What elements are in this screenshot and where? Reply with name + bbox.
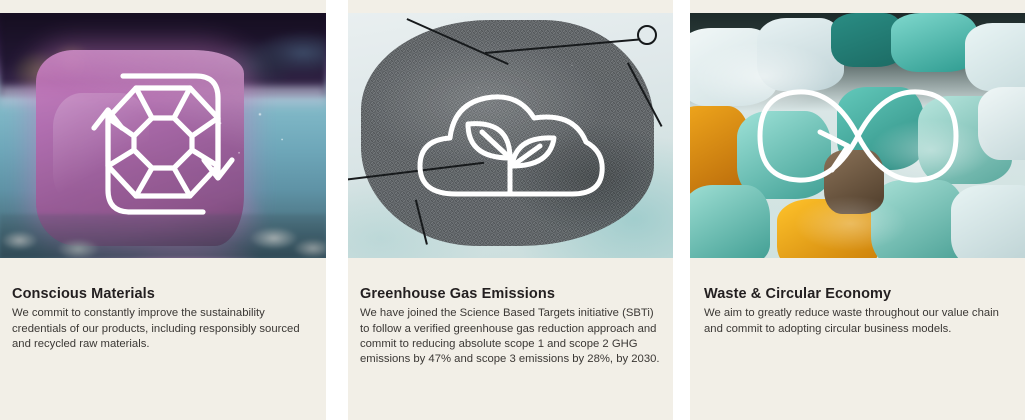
- card-waste-circular-economy[interactable]: Waste & Circular Economy We aim to great…: [690, 0, 1025, 420]
- water-sparkles: [196, 101, 320, 175]
- sustainability-cards-row: Conscious Materials We commit to constan…: [0, 0, 1025, 420]
- card-2-body: We have joined the Science Based Targets…: [360, 306, 660, 367]
- card-1-media: [0, 13, 326, 258]
- card-1-text: Conscious Materials We commit to constan…: [12, 286, 314, 352]
- card-2-title: Greenhouse Gas Emissions: [360, 286, 661, 303]
- glass-cullet-photo: [690, 13, 1025, 258]
- card-1-body: We commit to constantly improve the sust…: [12, 306, 312, 352]
- mesh-mass-photo: [348, 13, 673, 258]
- gutter-1: [326, 0, 348, 420]
- card-3-title: Waste & Circular Economy: [704, 286, 1013, 303]
- metal-hook-icon: [637, 25, 657, 45]
- card-2-media: [348, 13, 673, 258]
- gemstone-photo: [0, 13, 326, 258]
- card-2-text: Greenhouse Gas Emissions We have joined …: [360, 286, 661, 367]
- card-1-title: Conscious Materials: [12, 286, 314, 303]
- riverbed-rocks: [0, 214, 326, 258]
- card-3-body: We aim to greatly reduce waste throughou…: [704, 306, 1004, 336]
- card-conscious-materials[interactable]: Conscious Materials We commit to constan…: [0, 0, 326, 420]
- card-3-text: Waste & Circular Economy We aim to great…: [704, 286, 1013, 337]
- glass-highlights: [690, 13, 1025, 258]
- gutter-2: [673, 0, 690, 420]
- granular-mesh-mass: [361, 20, 654, 245]
- card-greenhouse-gas-emissions[interactable]: Greenhouse Gas Emissions We have joined …: [348, 0, 673, 420]
- card-3-media: [690, 13, 1025, 258]
